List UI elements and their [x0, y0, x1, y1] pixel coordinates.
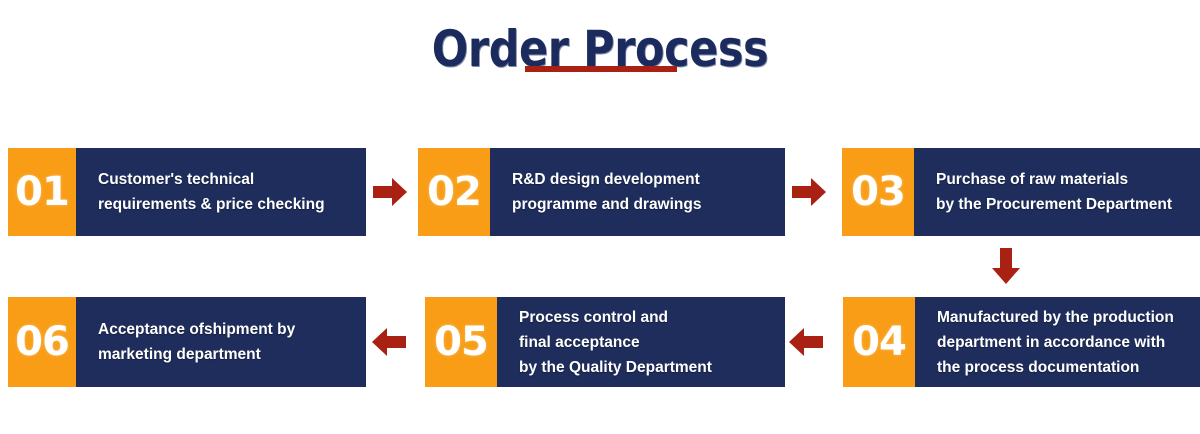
step-number-06: 06	[8, 297, 76, 387]
step-text-line: by the Quality Department	[519, 355, 777, 380]
process-step-04[interactable]: 04 Manufactured by the production depart…	[843, 297, 1200, 387]
step-text-line: programme and drawings	[512, 192, 777, 217]
step-text-02: R&D design development programme and dra…	[490, 148, 785, 236]
arrow-right-icon	[792, 175, 826, 209]
step-text-line: marketing department	[98, 342, 358, 367]
step-text-06: Acceptance ofshipment by marketing depar…	[76, 297, 366, 387]
arrow-down-icon	[989, 248, 1023, 284]
step-text-line: by the Procurement Department	[936, 192, 1200, 217]
step-text-05: Process control and final acceptance by …	[497, 297, 785, 387]
step-text-line: R&D design development	[512, 167, 777, 192]
step-text-line: Acceptance ofshipment by	[98, 317, 358, 342]
step-text-04: Manufactured by the production departmen…	[915, 297, 1200, 387]
process-step-06[interactable]: 06 Acceptance ofshipment by marketing de…	[8, 297, 366, 387]
step-text-line: Purchase of raw materials	[936, 167, 1200, 192]
step-text-03: Purchase of raw materials by the Procure…	[914, 148, 1200, 236]
arrow-right-icon	[373, 175, 407, 209]
step-text-01: Customer's technical requirements & pric…	[76, 148, 366, 236]
step-number-05: 05	[425, 297, 497, 387]
step-text-line: Manufactured by the production	[937, 305, 1200, 330]
process-step-02[interactable]: 02 R&D design development programme and …	[418, 148, 785, 236]
process-step-01[interactable]: 01 Customer's technical requirements & p…	[8, 148, 366, 236]
step-text-line: department in accordance with	[937, 330, 1200, 355]
process-step-03[interactable]: 03 Purchase of raw materials by the Proc…	[842, 148, 1200, 236]
step-text-line: Process control and	[519, 305, 777, 330]
arrow-left-icon	[372, 325, 406, 359]
step-text-line: the process documentation	[937, 355, 1200, 380]
step-number-01: 01	[8, 148, 76, 236]
process-step-05[interactable]: 05 Process control and final acceptance …	[425, 297, 785, 387]
step-text-line: final acceptance	[519, 330, 777, 355]
step-text-line: Customer's technical	[98, 167, 358, 192]
arrow-left-icon	[789, 325, 823, 359]
step-text-line: requirements & price checking	[98, 192, 358, 217]
step-number-02: 02	[418, 148, 490, 236]
step-number-03: 03	[842, 148, 914, 236]
step-number-04: 04	[843, 297, 915, 387]
title-underline-bar	[525, 66, 677, 72]
